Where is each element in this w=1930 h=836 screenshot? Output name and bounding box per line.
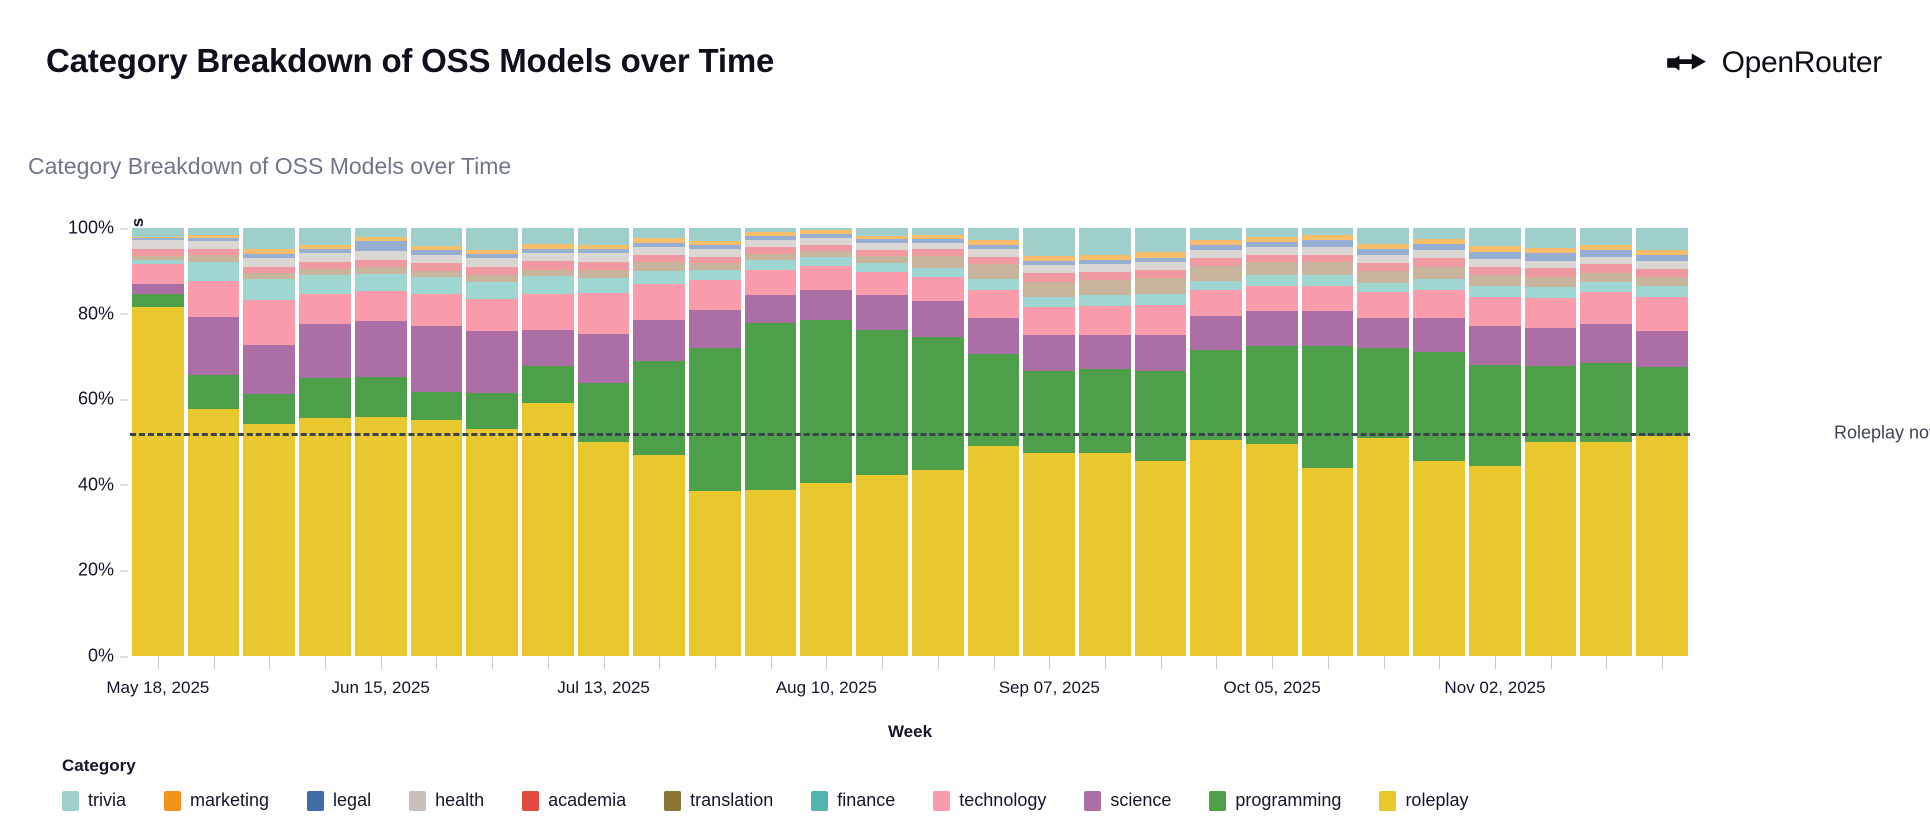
bar-segment-academia[interactable]	[1079, 272, 1131, 281]
legend-swatch	[664, 791, 681, 811]
bar-segment-science[interactable]	[578, 334, 630, 383]
bar-segment-programming[interactable]	[188, 375, 240, 408]
legend-title: Category	[62, 756, 1862, 776]
bar-segment-roleplay[interactable]	[522, 403, 574, 656]
bar-segment-trivia[interactable]	[466, 228, 518, 249]
stacked-bar[interactable]	[966, 228, 1022, 656]
bar-segment-finance[interactable]	[1357, 283, 1409, 292]
legend-item[interactable]: finance	[811, 790, 895, 811]
x-axis-tick-mark	[659, 656, 660, 669]
bar-segment-health[interactable]	[1302, 247, 1354, 255]
stacked-bar[interactable]	[687, 228, 743, 656]
bar-segment-translation[interactable]	[633, 262, 685, 271]
legend-item[interactable]: roleplay	[1379, 790, 1468, 811]
bar-segment-trivia[interactable]	[633, 228, 685, 238]
bar-segment-finance[interactable]	[188, 262, 240, 281]
bar-segment-programming[interactable]	[1413, 352, 1465, 461]
bar-segment-programming[interactable]	[745, 323, 797, 490]
bar-segment-academia[interactable]	[522, 261, 574, 270]
bar-segment-finance[interactable]	[1190, 281, 1242, 290]
legend-swatch	[1209, 791, 1226, 811]
bar-segment-finance[interactable]	[1636, 286, 1688, 297]
bar-segment-roleplay[interactable]	[132, 307, 184, 656]
bar-segment-programming[interactable]	[912, 337, 964, 470]
x-axis-tick-mark	[158, 656, 159, 669]
bar-segment-programming[interactable]	[968, 354, 1020, 446]
bar-segment-technology[interactable]	[355, 291, 407, 321]
bar-segment-science[interactable]	[299, 324, 351, 378]
bar-segment-programming[interactable]	[1636, 367, 1688, 435]
legend-label: marketing	[190, 790, 269, 811]
bar-segment-health[interactable]	[745, 240, 797, 247]
stacked-bar[interactable]	[464, 228, 520, 656]
bar-segment-health[interactable]	[968, 249, 1020, 257]
bar-segment-roleplay[interactable]	[1190, 440, 1242, 656]
bar-segment-finance[interactable]	[912, 268, 964, 277]
bar-segment-trivia[interactable]	[1357, 228, 1409, 244]
bar-segment-programming[interactable]	[1246, 346, 1298, 444]
bar-segment-trivia[interactable]	[1413, 228, 1465, 239]
bar-segment-legal[interactable]	[1525, 253, 1577, 260]
bar-segment-finance[interactable]	[578, 278, 630, 293]
legend-label: science	[1110, 790, 1171, 811]
legend-item[interactable]: academia	[522, 790, 626, 811]
bar-segment-health[interactable]	[1190, 250, 1242, 258]
legend-item-list: triviamarketinglegalhealthacademiatransl…	[62, 790, 1862, 811]
bar-segment-academia[interactable]	[132, 249, 184, 256]
bar-segment-technology[interactable]	[466, 299, 518, 331]
bar-segment-translation[interactable]	[1469, 275, 1521, 286]
legend-item[interactable]: marketing	[164, 790, 269, 811]
legend-swatch	[409, 791, 426, 811]
stacked-bar[interactable]	[1467, 228, 1523, 656]
bar-segment-technology[interactable]	[1357, 292, 1409, 318]
bar-segment-programming[interactable]	[1469, 365, 1521, 466]
bar-segment-science[interactable]	[1023, 335, 1075, 371]
stacked-bar[interactable]	[353, 228, 409, 656]
bar-segment-programming[interactable]	[466, 393, 518, 429]
bar-segment-science[interactable]	[355, 321, 407, 377]
bar-segment-science[interactable]	[411, 326, 463, 392]
bar-segment-translation[interactable]	[912, 256, 964, 268]
bar-segment-academia[interactable]	[466, 267, 518, 276]
bar-segment-technology[interactable]	[1580, 292, 1632, 324]
x-axis-tick-mark	[436, 656, 437, 669]
bar-segment-roleplay[interactable]	[968, 446, 1020, 656]
bar-segment-trivia[interactable]	[299, 228, 351, 245]
bar-segment-finance[interactable]	[355, 274, 407, 291]
bar-segment-finance[interactable]	[243, 279, 295, 300]
bar-segment-health[interactable]	[188, 241, 240, 249]
bar-segment-health[interactable]	[1413, 250, 1465, 258]
stacked-bar[interactable]	[1634, 228, 1690, 656]
bar-segment-finance[interactable]	[1413, 279, 1465, 290]
bar-segment-technology[interactable]	[1413, 290, 1465, 318]
bar-segment-academia[interactable]	[1580, 264, 1632, 273]
bar-segment-finance[interactable]	[522, 276, 574, 293]
bar-segment-trivia[interactable]	[1525, 228, 1577, 248]
legend-item[interactable]: science	[1084, 790, 1171, 811]
bar-segment-academia[interactable]	[1525, 268, 1577, 276]
x-axis-tick-label: Jun 15, 2025	[332, 678, 430, 698]
legend-item[interactable]: trivia	[62, 790, 126, 811]
bar-segment-programming[interactable]	[578, 383, 630, 442]
bar-segment-finance[interactable]	[411, 277, 463, 293]
bar-segment-finance[interactable]	[633, 271, 685, 284]
bar-segment-science[interactable]	[800, 290, 852, 320]
bar-segment-health[interactable]	[132, 240, 184, 249]
bar-segment-translation[interactable]	[1246, 262, 1298, 275]
bar-segment-roleplay[interactable]	[1135, 461, 1187, 656]
bar-segment-health[interactable]	[243, 258, 295, 267]
bar-segment-technology[interactable]	[633, 284, 685, 320]
bar-segment-academia[interactable]	[1413, 258, 1465, 267]
x-axis-tick-mark	[1384, 656, 1385, 669]
bar-segment-roleplay[interactable]	[1246, 444, 1298, 656]
bar-segment-science[interactable]	[689, 310, 741, 348]
bar-segment-trivia[interactable]	[1469, 228, 1521, 246]
bar-segment-finance[interactable]	[1079, 295, 1131, 306]
bar-segment-academia[interactable]	[1469, 267, 1521, 276]
bar-segment-technology[interactable]	[745, 270, 797, 296]
bar-segment-trivia[interactable]	[355, 228, 407, 237]
x-axis-tick-mark	[381, 656, 382, 669]
bar-segment-academia[interactable]	[411, 263, 463, 271]
bar-segment-roleplay[interactable]	[633, 455, 685, 656]
bar-segment-trivia[interactable]	[1246, 228, 1298, 237]
stacked-bar[interactable]	[1355, 228, 1411, 656]
bar-segment-technology[interactable]	[1302, 286, 1354, 312]
bar-segment-health[interactable]	[633, 247, 685, 255]
bar-segment-programming[interactable]	[1190, 350, 1242, 440]
bar-segment-roleplay[interactable]	[1636, 436, 1688, 656]
stacked-bar[interactable]	[576, 228, 632, 656]
bar-segment-programming[interactable]	[1302, 346, 1354, 468]
bar-segment-roleplay[interactable]	[1357, 438, 1409, 656]
bar-segment-trivia[interactable]	[1636, 228, 1688, 249]
bar-segment-translation[interactable]	[1580, 273, 1632, 282]
bar-segment-programming[interactable]	[1580, 363, 1632, 442]
bar-segment-health[interactable]	[1135, 262, 1187, 270]
bar-segment-technology[interactable]	[1023, 307, 1075, 335]
stacked-bar[interactable]	[631, 228, 687, 656]
bar-segment-translation[interactable]	[1636, 277, 1688, 286]
stacked-bar[interactable]	[1021, 228, 1077, 656]
bar-segment-technology[interactable]	[522, 294, 574, 330]
bar-segment-science[interactable]	[1079, 335, 1131, 369]
bar-segment-science[interactable]	[912, 301, 964, 337]
bar-segment-technology[interactable]	[800, 266, 852, 291]
bar-segment-programming[interactable]	[355, 377, 407, 418]
bar-segment-technology[interactable]	[132, 264, 184, 283]
bar-segment-science[interactable]	[1302, 311, 1354, 345]
bar-segment-academia[interactable]	[1636, 269, 1688, 278]
stacked-bar[interactable]	[1077, 228, 1133, 656]
bar-segment-finance[interactable]	[1135, 294, 1187, 305]
bar-segment-science[interactable]	[1525, 328, 1577, 366]
stacked-bar[interactable]	[854, 228, 910, 656]
bar-segment-health[interactable]	[355, 251, 407, 260]
bar-segment-finance[interactable]	[856, 263, 908, 271]
bar-segment-translation[interactable]	[856, 256, 908, 263]
bar-segment-programming[interactable]	[800, 320, 852, 483]
bar-segment-trivia[interactable]	[411, 228, 463, 246]
x-axis-tick-label: May 18, 2025	[106, 678, 209, 698]
bar-segment-technology[interactable]	[912, 277, 964, 301]
y-axis-tick-label: 40%	[78, 474, 130, 495]
bar-segment-science[interactable]	[132, 284, 184, 294]
bar-segment-academia[interactable]	[633, 255, 685, 263]
bar-segment-academia[interactable]	[1302, 255, 1354, 263]
bar-segment-finance[interactable]	[1023, 297, 1075, 308]
stacked-bar[interactable]	[1300, 228, 1356, 656]
stacked-bar[interactable]	[409, 228, 465, 656]
legend-item[interactable]: health	[409, 790, 484, 811]
bar-segment-academia[interactable]	[1135, 270, 1187, 279]
bar-segment-technology[interactable]	[1135, 305, 1187, 335]
bar-segment-academia[interactable]	[1246, 255, 1298, 263]
x-axis-tick-mark	[269, 656, 270, 669]
bar-segment-programming[interactable]	[856, 330, 908, 475]
bar-segment-science[interactable]	[968, 318, 1020, 354]
bar-segment-technology[interactable]	[968, 290, 1020, 318]
bar-segment-legal[interactable]	[1469, 252, 1521, 259]
bar-segment-trivia[interactable]	[1079, 228, 1131, 255]
bar-segment-trivia[interactable]	[1580, 228, 1632, 245]
bar-segment-translation[interactable]	[578, 270, 630, 278]
stacked-bar[interactable]	[1411, 228, 1467, 656]
bar-segment-science[interactable]	[745, 295, 797, 323]
bar-segment-translation[interactable]	[1190, 266, 1242, 281]
bar-segment-finance[interactable]	[968, 279, 1020, 290]
bar-segment-science[interactable]	[1357, 318, 1409, 348]
bar-segment-technology[interactable]	[689, 280, 741, 310]
bar-segment-programming[interactable]	[1357, 348, 1409, 438]
bar-segment-translation[interactable]	[1135, 278, 1187, 294]
bar-segment-translation[interactable]	[968, 264, 1020, 279]
bar-segment-science[interactable]	[188, 317, 240, 375]
stacked-bar[interactable]	[520, 228, 576, 656]
bar-segment-roleplay[interactable]	[1413, 461, 1465, 656]
legend-item[interactable]: programming	[1209, 790, 1341, 811]
stacked-bar[interactable]	[186, 228, 242, 656]
bar-segment-health[interactable]	[689, 249, 741, 257]
bar-segment-health[interactable]	[1469, 259, 1521, 267]
bar-segment-finance[interactable]	[1469, 286, 1521, 297]
bar-segment-health[interactable]	[522, 253, 574, 262]
bar-segment-programming[interactable]	[299, 378, 351, 419]
bar-segment-roleplay[interactable]	[800, 483, 852, 656]
bar-segment-technology[interactable]	[1079, 306, 1131, 335]
legend-label: health	[435, 790, 484, 811]
bar-segment-programming[interactable]	[689, 348, 741, 491]
bar-segment-roleplay[interactable]	[1469, 466, 1521, 656]
bar-segment-roleplay[interactable]	[1525, 442, 1577, 656]
bar-segment-roleplay[interactable]	[355, 417, 407, 656]
x-axis-title: Week	[130, 722, 1690, 742]
bar-segment-technology[interactable]	[299, 294, 351, 324]
bar-segment-science[interactable]	[243, 345, 295, 394]
bar-segment-roleplay[interactable]	[411, 420, 463, 656]
legend-swatch	[1379, 791, 1396, 811]
bar-segment-health[interactable]	[1023, 265, 1075, 273]
bar-segment-finance[interactable]	[1246, 275, 1298, 286]
bar-segment-finance[interactable]	[1525, 287, 1577, 298]
bar-segment-technology[interactable]	[188, 281, 240, 317]
stacked-bar[interactable]	[1523, 228, 1579, 656]
bar-segment-health[interactable]	[1636, 261, 1688, 269]
bar-segment-trivia[interactable]	[578, 228, 630, 245]
bar-segment-programming[interactable]	[243, 394, 295, 424]
bar-segment-academia[interactable]	[355, 260, 407, 268]
bar-segment-finance[interactable]	[466, 282, 518, 299]
bar-segment-science[interactable]	[522, 330, 574, 366]
bar-segment-roleplay[interactable]	[912, 470, 964, 656]
bar-segment-roleplay[interactable]	[856, 475, 908, 656]
x-axis-tick-mark	[715, 656, 716, 669]
x-axis-tick-mark	[1049, 656, 1050, 669]
bar-segment-science[interactable]	[1246, 311, 1298, 345]
bar-segment-trivia[interactable]	[1023, 228, 1075, 256]
bar-segment-finance[interactable]	[299, 275, 351, 294]
bar-segment-roleplay[interactable]	[299, 418, 351, 656]
stacked-bar[interactable]	[743, 228, 799, 656]
stacked-bar[interactable]	[1578, 228, 1634, 656]
bar-segment-roleplay[interactable]	[1580, 442, 1632, 656]
bar-segment-roleplay[interactable]	[466, 429, 518, 656]
bar-segment-programming[interactable]	[1079, 369, 1131, 452]
bar-segment-science[interactable]	[633, 320, 685, 361]
bar-segment-technology[interactable]	[1636, 297, 1688, 331]
bar-segment-health[interactable]	[1580, 257, 1632, 265]
bar-segment-roleplay[interactable]	[1023, 453, 1075, 656]
bar-segment-science[interactable]	[1636, 331, 1688, 367]
x-axis-tick-mark	[214, 656, 215, 669]
bar-segment-roleplay[interactable]	[1079, 453, 1131, 656]
bar-segment-translation[interactable]	[1357, 271, 1409, 283]
bar-segment-technology[interactable]	[411, 294, 463, 326]
bar-segment-health[interactable]	[1525, 261, 1577, 269]
bar-segment-technology[interactable]	[856, 272, 908, 295]
stacked-bar[interactable]	[1133, 228, 1189, 656]
bar-segment-technology[interactable]	[1190, 290, 1242, 316]
bar-segment-translation[interactable]	[1079, 280, 1131, 295]
bar-segment-academia[interactable]	[1023, 273, 1075, 282]
bar-segment-academia[interactable]	[1190, 258, 1242, 266]
bar-segment-finance[interactable]	[1302, 275, 1354, 286]
chart-legend: Category triviamarketinglegalhealthacade…	[62, 756, 1862, 811]
legend-item[interactable]: translation	[664, 790, 773, 811]
bar-segment-science[interactable]	[1135, 335, 1187, 371]
bar-segment-science[interactable]	[1580, 324, 1632, 363]
bar-segment-translation[interactable]	[1525, 277, 1577, 288]
bar-segment-trivia[interactable]	[132, 228, 184, 237]
bar-segment-translation[interactable]	[1023, 282, 1075, 297]
bar-segment-roleplay[interactable]	[745, 490, 797, 656]
bar-segment-trivia[interactable]	[1190, 228, 1242, 240]
x-axis-tick-mark	[1161, 656, 1162, 669]
bar-segment-trivia[interactable]	[522, 228, 574, 244]
bar-segment-technology[interactable]	[1525, 298, 1577, 328]
bar-segment-roleplay[interactable]	[1302, 468, 1354, 656]
bar-segment-science[interactable]	[466, 331, 518, 393]
bar-segment-finance[interactable]	[800, 257, 852, 265]
bar-segment-programming[interactable]	[132, 294, 184, 308]
plot-area: 0%20%40%60%80%100% Roleplay now at ~52% …	[130, 228, 1690, 656]
bar-segment-trivia[interactable]	[689, 228, 741, 240]
bar-segment-programming[interactable]	[633, 361, 685, 455]
bar-segment-trivia[interactable]	[856, 228, 908, 235]
bar-segment-academia[interactable]	[1357, 263, 1409, 271]
bar-segment-programming[interactable]	[1135, 371, 1187, 461]
bar-segment-health[interactable]	[1246, 247, 1298, 255]
bar-segment-programming[interactable]	[1525, 366, 1577, 442]
bar-segment-trivia[interactable]	[968, 228, 1020, 240]
bar-segment-legal[interactable]	[355, 241, 407, 252]
legend-item[interactable]: technology	[933, 790, 1046, 811]
bar-segment-science[interactable]	[1190, 316, 1242, 350]
bar-segment-finance[interactable]	[745, 260, 797, 269]
bar-segment-finance[interactable]	[689, 270, 741, 281]
bar-segment-health[interactable]	[1357, 255, 1409, 263]
bar-segment-translation[interactable]	[1302, 262, 1354, 275]
bar-segment-health[interactable]	[1079, 264, 1131, 272]
bar-segment-trivia[interactable]	[243, 228, 295, 249]
bar-segment-roleplay[interactable]	[578, 442, 630, 656]
bar-segment-health[interactable]	[578, 253, 630, 262]
stacked-bar[interactable]	[1244, 228, 1300, 656]
bar-segment-health[interactable]	[411, 255, 463, 264]
bar-segment-roleplay[interactable]	[243, 424, 295, 656]
bar-segment-programming[interactable]	[1023, 371, 1075, 452]
bar-segment-academia[interactable]	[299, 262, 351, 269]
x-axis-tick-mark	[325, 656, 326, 669]
bar-segment-technology[interactable]	[1469, 297, 1521, 327]
bar-segment-academia[interactable]	[968, 257, 1020, 265]
bar-segment-programming[interactable]	[411, 392, 463, 420]
bar-segment-health[interactable]	[466, 258, 518, 267]
bar-segment-translation[interactable]	[1413, 267, 1465, 280]
stacked-bar[interactable]	[130, 228, 186, 656]
bar-segment-roleplay[interactable]	[188, 409, 240, 656]
bar-segment-health[interactable]	[299, 253, 351, 262]
stacked-bar[interactable]	[297, 228, 353, 656]
bar-segment-academia[interactable]	[578, 262, 630, 271]
legend-item[interactable]: legal	[307, 790, 371, 811]
legend-label: finance	[837, 790, 895, 811]
bar-segment-programming[interactable]	[522, 366, 574, 402]
legend-swatch	[164, 791, 181, 811]
bar-segment-technology[interactable]	[1246, 286, 1298, 312]
x-axis-tick-mark	[1662, 656, 1663, 669]
bar-segment-science[interactable]	[1469, 326, 1521, 365]
bar-segment-science[interactable]	[856, 295, 908, 330]
stacked-bar[interactable]	[241, 228, 297, 656]
bar-segment-technology[interactable]	[578, 293, 630, 334]
legend-label: academia	[548, 790, 626, 811]
stacked-bar[interactable]	[798, 228, 854, 656]
bar-segment-trivia[interactable]	[1302, 228, 1354, 235]
stacked-bar[interactable]	[910, 228, 966, 656]
stacked-bar[interactable]	[1188, 228, 1244, 656]
bar-segment-roleplay[interactable]	[689, 491, 741, 656]
bar-segment-technology[interactable]	[243, 300, 295, 345]
bar-segment-science[interactable]	[1413, 318, 1465, 352]
x-axis-tick-mark	[1495, 656, 1496, 669]
chart-container: Category Breakdown of OSS Models over Ti…	[0, 0, 1930, 836]
bar-segment-trivia[interactable]	[1135, 228, 1187, 252]
bar-segment-finance[interactable]	[1580, 282, 1632, 293]
